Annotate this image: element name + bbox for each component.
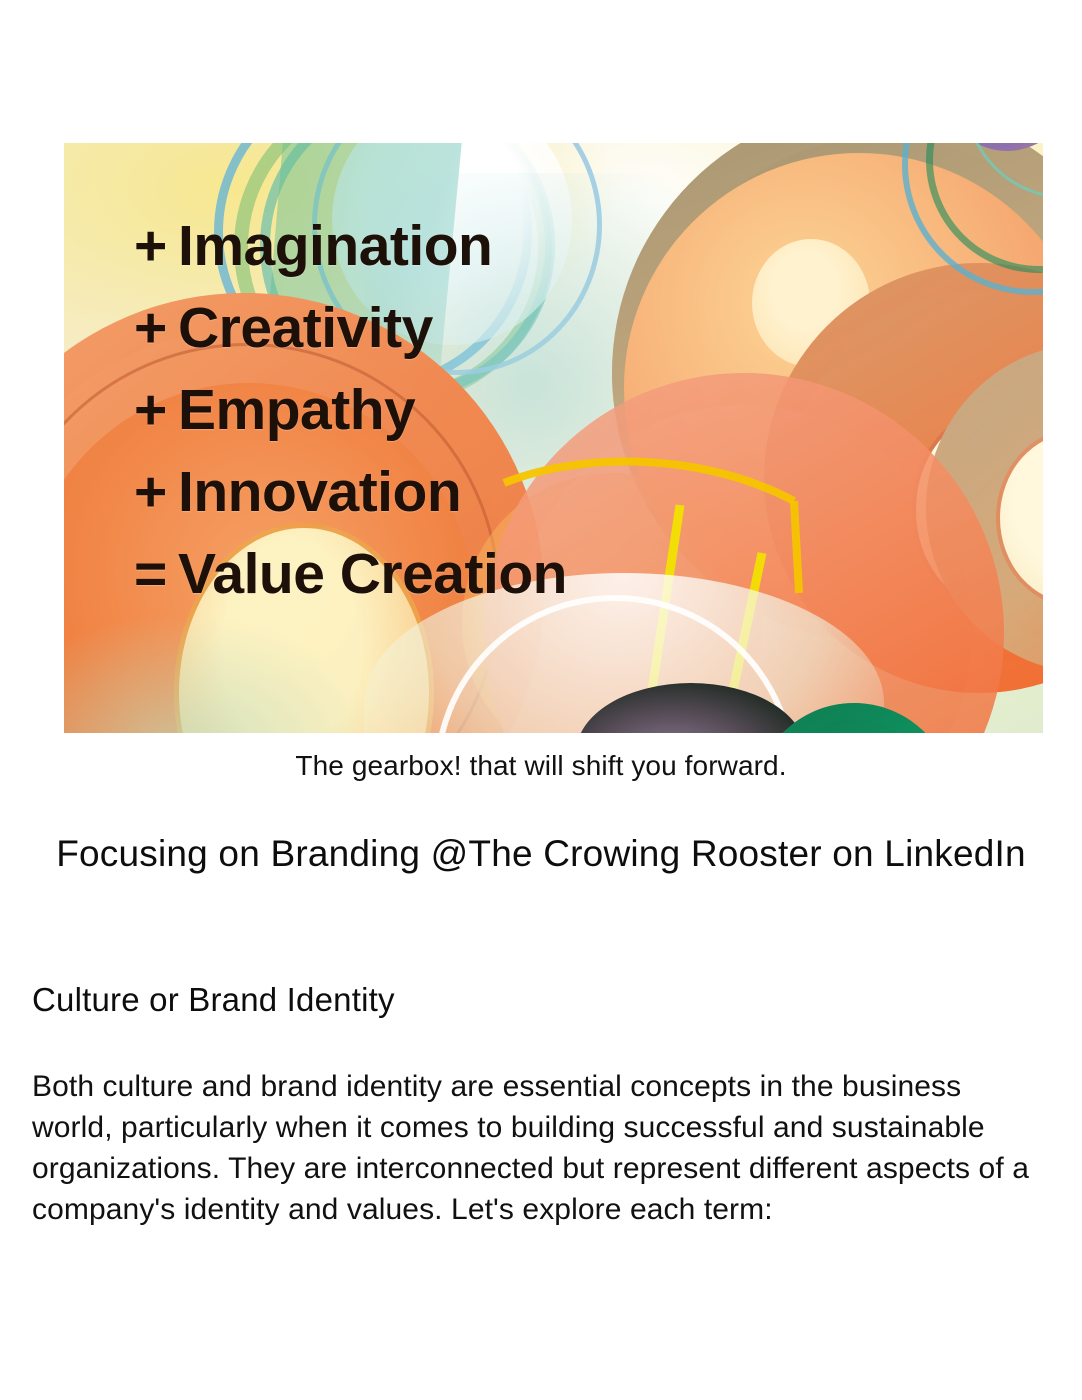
equation-term-4: Innovation — [178, 460, 461, 524]
equation-term-2: Creativity — [178, 296, 433, 360]
page-title: Focusing on Branding @The Crowing Rooste… — [32, 828, 1050, 879]
equation-overlay: +Imagination +Creativity +Empathy +Innov… — [134, 205, 834, 615]
equation-term-3: Empathy — [178, 378, 415, 442]
equation-operator-1: + — [134, 205, 178, 287]
equation-line-1: +Imagination — [134, 205, 834, 287]
equation-operator-3: + — [134, 369, 178, 451]
equation-term-1: Imagination — [178, 214, 492, 278]
document-page: +Imagination +Creativity +Empathy +Innov… — [0, 0, 1082, 1400]
equation-term-5: Value Creation — [178, 542, 567, 606]
equation-operator-4: + — [134, 451, 178, 533]
decor-green-haze-bottom — [64, 613, 384, 733]
hero-figure: +Imagination +Creativity +Empathy +Innov… — [64, 143, 1043, 733]
body-paragraph: Both culture and brand identity are esse… — [32, 1066, 1046, 1230]
equation-line-3: +Empathy — [134, 369, 834, 451]
equation-line-2: +Creativity — [134, 287, 834, 369]
gears-value-creation-graphic: +Imagination +Creativity +Empathy +Innov… — [64, 143, 1043, 733]
equation-operator-2: + — [134, 287, 178, 369]
section-heading: Culture or Brand Identity — [32, 978, 1050, 1022]
equation-operator-5: = — [134, 533, 178, 615]
equation-line-4: +Innovation — [134, 451, 834, 533]
figure-caption: The gearbox! that will shift you forward… — [32, 748, 1050, 784]
equation-line-5: =Value Creation — [134, 533, 834, 615]
